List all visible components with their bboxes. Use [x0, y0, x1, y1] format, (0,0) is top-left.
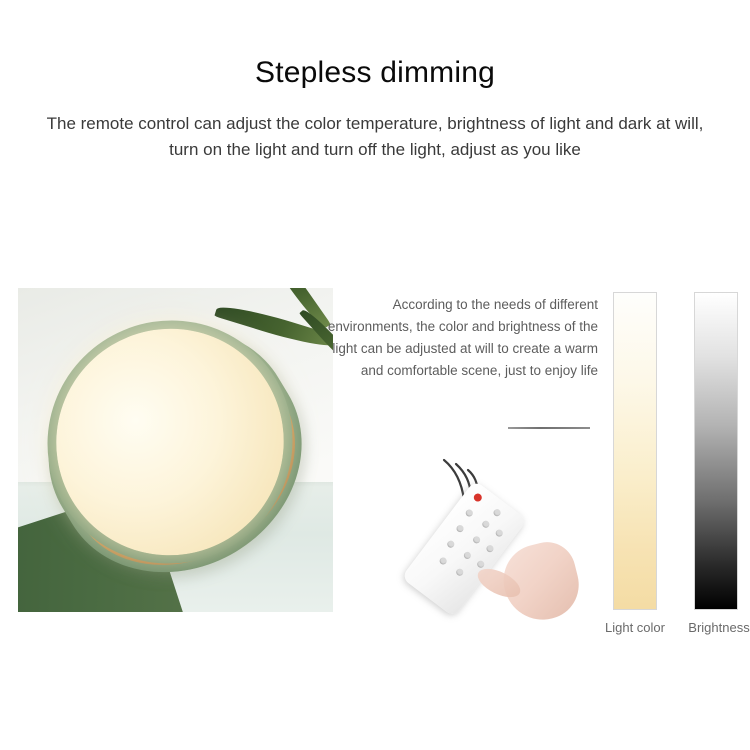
divider	[508, 427, 590, 429]
light-color-gradient-bar[interactable]	[613, 292, 657, 610]
page-title: Stepless dimming	[0, 0, 750, 91]
brightness-gradient-bar[interactable]	[694, 292, 738, 610]
info-paragraph: According to the needs of different envi…	[326, 294, 598, 381]
remote-illustration	[430, 452, 610, 622]
page-subtitle: The remote control can adjust the color …	[30, 91, 720, 164]
product-photo	[18, 288, 333, 612]
page-header: Stepless dimming The remote control can …	[0, 0, 750, 163]
brightness-label: Brightness	[662, 620, 750, 635]
